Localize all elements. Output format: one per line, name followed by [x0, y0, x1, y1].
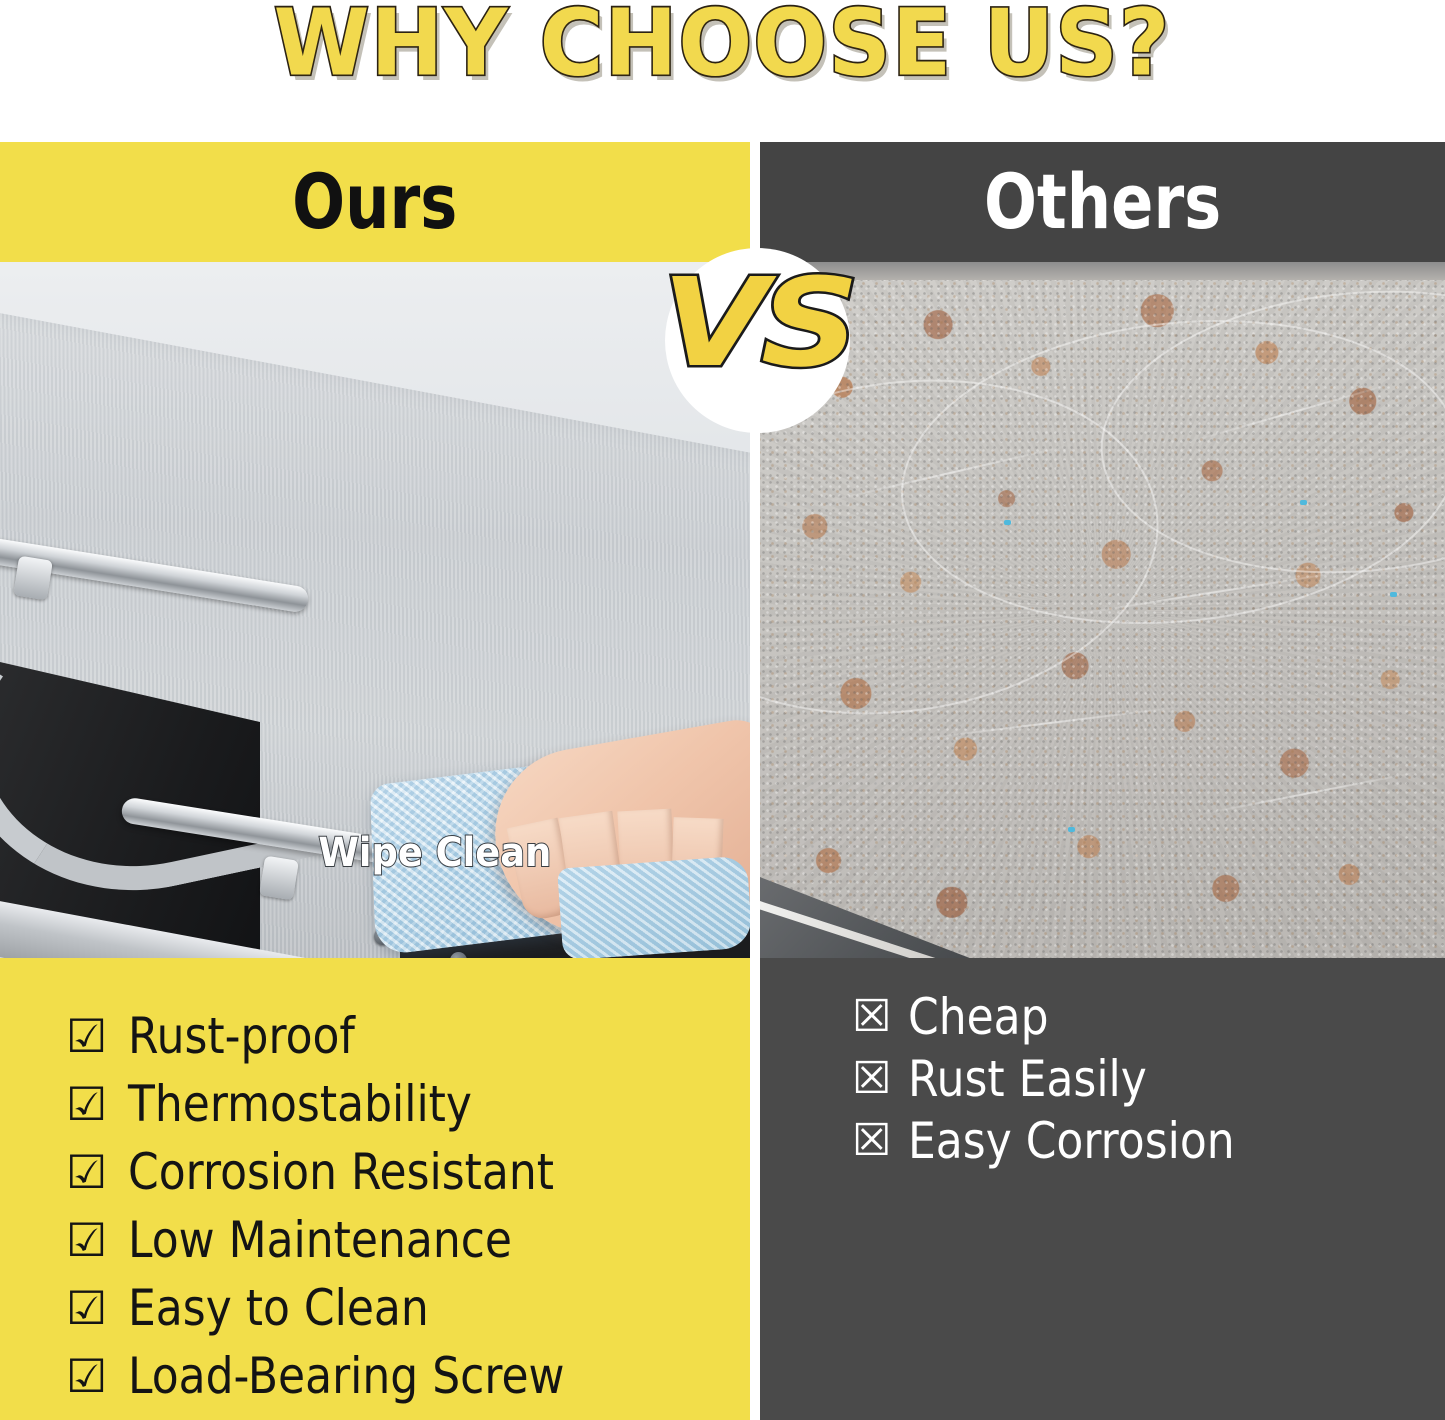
ours-feature-list: ☑ Rust-proof ☑ Thermostability ☑ Corrosi… [66, 1002, 750, 1410]
ours-header-bar: Ours [0, 142, 750, 262]
checkbox-checked-icon: ☑ [66, 1353, 128, 1399]
rusty-surface-illustration [760, 262, 1445, 958]
list-item: ☑ Load-Bearing Screw [66, 1342, 750, 1410]
checkbox-crossed-icon: ☒ [852, 995, 908, 1039]
list-item: ☑ Easy to Clean [66, 1274, 750, 1342]
debris-fleck [1004, 520, 1011, 525]
others-header-bar: Others [760, 142, 1445, 262]
others-photo [760, 262, 1445, 958]
list-item: ☑ Thermostability [66, 1070, 750, 1138]
list-item: ☒ Rust Easily [852, 1048, 1445, 1110]
checkbox-checked-icon: ☑ [66, 1013, 128, 1059]
feature-label: Corrosion Resistant [128, 1147, 554, 1197]
feature-label: Easy to Clean [128, 1283, 429, 1333]
ours-photo: Wipe Clean [0, 262, 750, 958]
checkbox-checked-icon: ☑ [66, 1149, 128, 1195]
list-item: ☑ Low Maintenance [66, 1206, 750, 1274]
checkbox-crossed-icon: ☒ [852, 1119, 908, 1163]
feature-label: Rust-proof [128, 1011, 355, 1061]
checkbox-checked-icon: ☑ [66, 1217, 128, 1263]
list-item: ☒ Cheap [852, 986, 1445, 1048]
checkbox-crossed-icon: ☒ [852, 1057, 908, 1101]
ours-feature-panel: ☑ Rust-proof ☑ Thermostability ☑ Corrosi… [0, 958, 750, 1420]
comparison-section: Ours [0, 140, 1445, 1420]
page-title: WHY CHOOSE US? [274, 0, 1171, 92]
versus-badge-label: VS [662, 262, 853, 384]
others-column: Others [760, 140, 1445, 1420]
feature-label: Rust Easily [908, 1054, 1147, 1104]
feature-label: Easy Corrosion [908, 1116, 1235, 1166]
feature-label: Thermostability [128, 1079, 472, 1129]
debris-fleck [1390, 592, 1397, 597]
debris-fleck [1300, 500, 1307, 505]
feature-label: Cheap [908, 992, 1049, 1042]
feature-label: Low Maintenance [128, 1215, 512, 1265]
title-banner: WHY CHOOSE US? [0, 0, 1445, 140]
others-heading: Others [984, 164, 1221, 240]
list-item: ☒ Easy Corrosion [852, 1110, 1445, 1172]
steel-cart-illustration: Wipe Clean [0, 262, 750, 958]
wipe-clean-caption: Wipe Clean [30, 830, 720, 876]
checkbox-checked-icon: ☑ [66, 1081, 128, 1127]
feature-label: Load-Bearing Screw [128, 1351, 565, 1401]
list-item: ☑ Rust-proof [66, 1002, 750, 1070]
debris-fleck [1068, 827, 1075, 832]
ours-column: Ours [0, 140, 750, 1420]
others-feature-list: ☒ Cheap ☒ Rust Easily ☒ Easy Corrosion [852, 986, 1445, 1172]
versus-badge: VS [655, 230, 860, 435]
handle-collar-upper [13, 556, 53, 601]
checkbox-checked-icon: ☑ [66, 1285, 128, 1331]
others-feature-panel: ☒ Cheap ☒ Rust Easily ☒ Easy Corrosion [760, 958, 1445, 1420]
list-item: ☑ Corrosion Resistant [66, 1138, 750, 1206]
surface-back-edge [760, 262, 1445, 280]
ours-heading: Ours [292, 164, 457, 240]
